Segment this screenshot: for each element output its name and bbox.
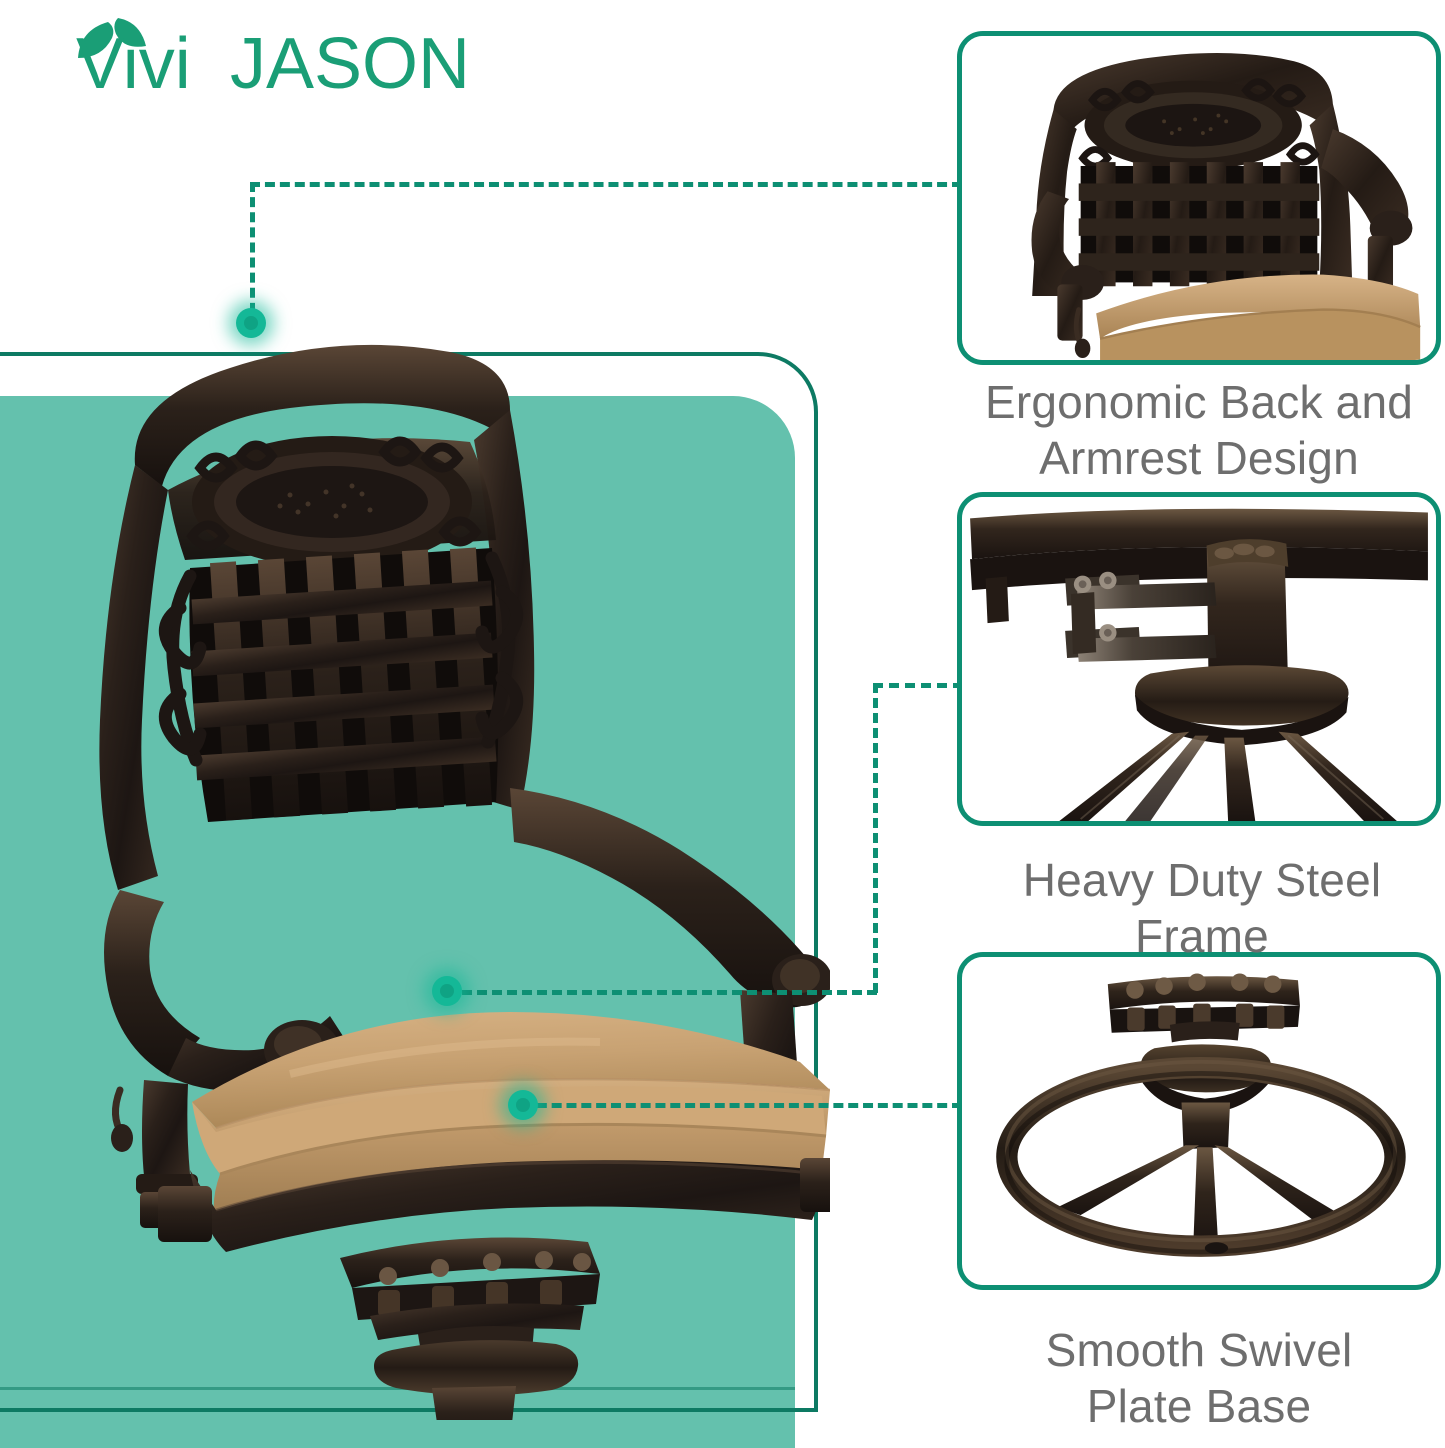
- connector-frame-horizontal-upper: [873, 683, 963, 688]
- connector-back-vertical: [250, 182, 255, 328]
- hotspot-marker-back: [236, 308, 266, 338]
- callout-card-ergonomic-back-armrest: [957, 31, 1441, 365]
- hotspot-marker-steel-frame: [432, 976, 462, 1006]
- callout-label-line: Armrest Design: [957, 430, 1441, 486]
- callout-label-heavy-duty-steel-frame: Heavy Duty Steel Frame: [957, 852, 1445, 964]
- callout-card-heavy-duty-steel-frame: [957, 492, 1441, 826]
- hero-product-image: [40, 290, 830, 1420]
- brand-name-secondary: JASON: [230, 24, 470, 96]
- brand-logo-svg: Vivi JASON: [62, 16, 512, 96]
- brand-name-primary: Vivi: [76, 24, 191, 96]
- connector-frame-vertical: [873, 683, 878, 993]
- callout-label-line: Heavy Duty Steel Frame: [957, 852, 1445, 964]
- connector-back-horizontal: [250, 182, 962, 187]
- connector-base-horizontal: [522, 1103, 962, 1108]
- callout-label-line: Plate Base: [957, 1378, 1441, 1434]
- callout-card-smooth-swivel-plate-base: [957, 952, 1441, 1290]
- callout-label-line: Ergonomic Back and: [957, 374, 1441, 430]
- callout-label-smooth-swivel-plate-base: Smooth Swivel Plate Base: [957, 1322, 1441, 1434]
- brand-logo: Vivi JASON: [62, 18, 512, 96]
- connector-frame-horizontal-lower: [447, 990, 877, 995]
- callout-label-line: Smooth Swivel: [957, 1322, 1441, 1378]
- callout-label-ergonomic-back-armrest: Ergonomic Back and Armrest Design: [957, 374, 1441, 486]
- hotspot-marker-swivel-base: [508, 1090, 538, 1120]
